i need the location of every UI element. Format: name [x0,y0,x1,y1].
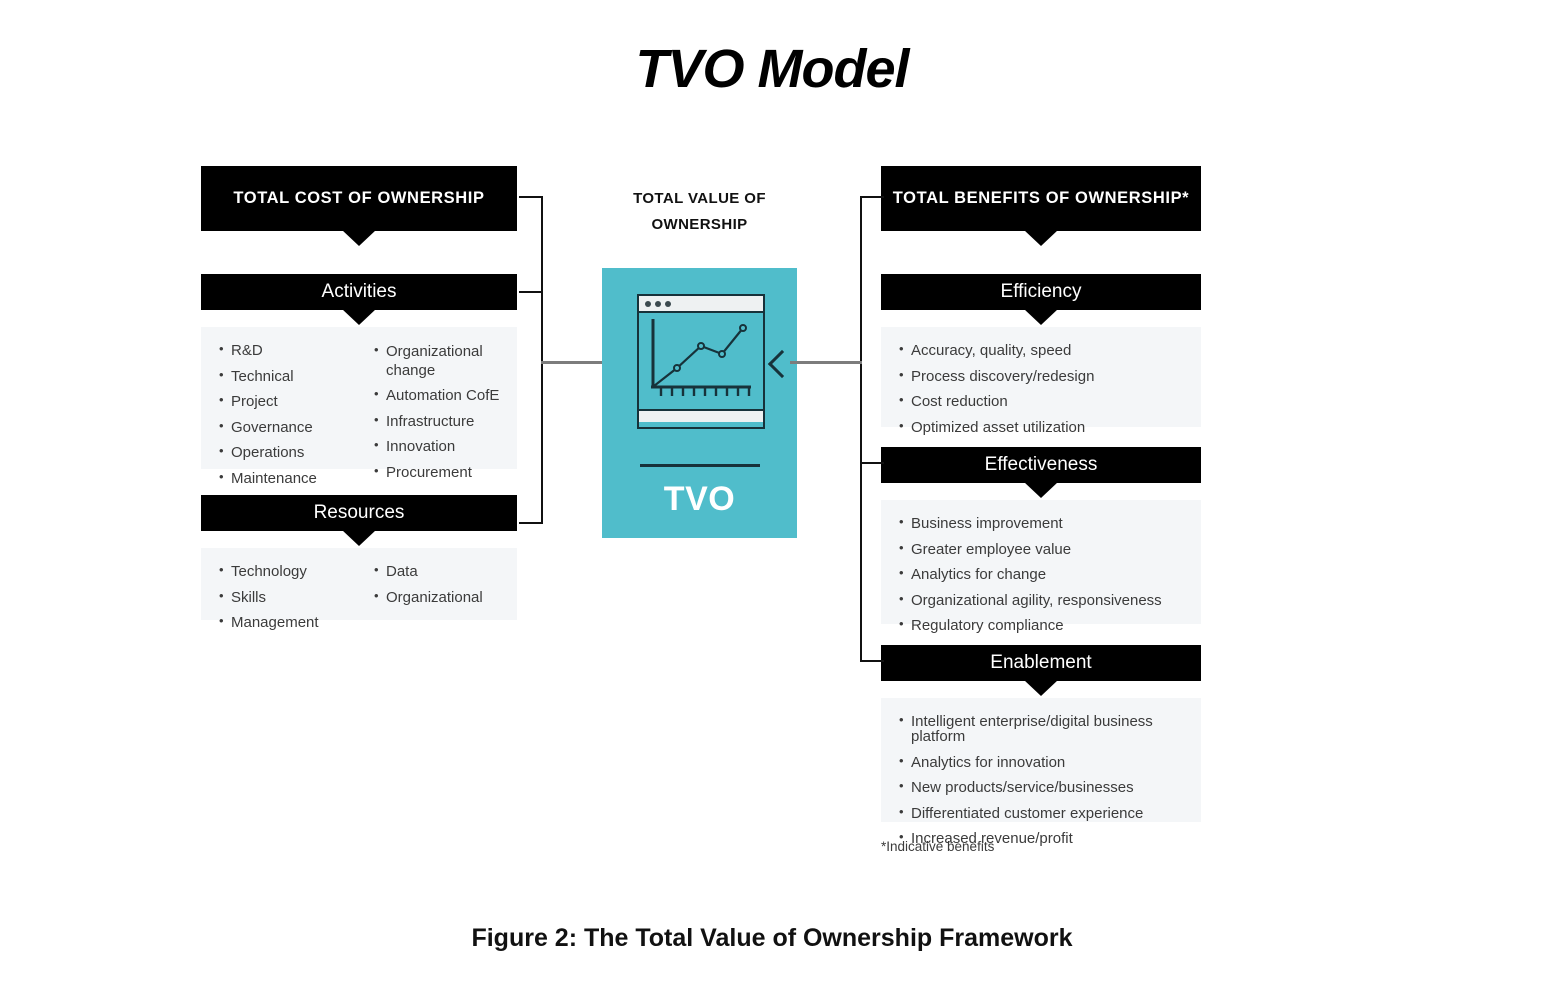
arrow-notch-icon [342,230,376,246]
list-item: Organizational change [374,343,524,381]
list-item: New products/service/businesses [899,780,1183,795]
activities-list-panel: R&D Technical Project Governance Operati… [201,327,517,469]
effectiveness-list-panel: Business improvement Greater employee va… [881,500,1201,624]
effectiveness-header-label: Effectiveness [985,454,1098,477]
resources-header: Resources [201,495,517,531]
arrow-notch-icon [1024,309,1058,325]
list-item: Governance [219,420,374,435]
tvo-caption-line-2: OWNERSHIP [651,216,747,233]
list-item: Organizational agility, responsiveness [899,593,1183,608]
list-item: Greater employee value [899,542,1183,557]
window-titlebar [639,296,763,313]
resources-list-panel: Technology Skills Management Data Organi… [201,548,517,620]
list-item: Operations [219,445,374,460]
tvo-caption-line-1: TOTAL VALUE OF [633,190,766,207]
list-item: Optimized asset utilization [899,420,1183,435]
window-dot-icon [665,301,671,307]
list-item: Differentiated customer experience [899,806,1183,821]
tco-header-label: TOTAL COST OF OWNERSHIP [233,189,484,209]
enablement-header-label: Enablement [990,652,1091,675]
line-chart-graphic [639,313,763,409]
list-item: Regulatory compliance [899,618,1183,633]
list-item: Cost reduction [899,394,1183,409]
list-item: Data [374,564,524,579]
arrow-notch-icon [1024,230,1058,246]
list-item: Intelligent enterprise/digital business … [899,714,1183,744]
resources-header-label: Resources [314,502,405,525]
tvo-divider-rule [640,464,760,467]
total-benefits-of-ownership-header: TOTAL BENEFITS OF OWNERSHIP* [881,166,1201,231]
footnote-text: *Indicative benefits [881,839,994,854]
activities-header-label: Activities [322,281,397,304]
right-bracket-tick-top [860,196,884,198]
window-dot-icon [645,301,651,307]
list-item: Management [219,615,374,630]
list-item: Business improvement [899,516,1183,531]
left-bracket-tick-middle [519,291,543,293]
total-value-of-ownership-caption: TOTAL VALUE OF OWNERSHIP [602,186,797,237]
list-item: Skills [219,590,374,605]
enablement-header: Enablement [881,645,1201,681]
diagram-canvas: TVO Model TOTAL COST OF OWNERSHIP Activi… [0,0,1544,1000]
list-item: Process discovery/redesign [899,369,1183,384]
list-item: Technical [219,369,374,384]
enablement-list-panel: Intelligent enterprise/digital business … [881,698,1201,822]
right-bracket-tick-bottom [860,660,884,662]
right-bracket-tick-middle [860,462,884,464]
tvo-center-panel: TVO [602,268,797,538]
efficiency-list-panel: Accuracy, quality, speed Process discove… [881,327,1201,427]
list-item: R&D [219,343,374,358]
list-item: Automation CofE [374,388,524,403]
resources-column-1: Technology Skills Management [219,564,374,641]
list-item: Accuracy, quality, speed [899,343,1183,358]
left-bracket-spine [541,196,543,524]
total-cost-of-ownership-header: TOTAL COST OF OWNERSHIP [201,166,517,231]
list-item: Project [219,394,374,409]
list-item: Procurement [374,465,524,480]
right-bracket-spine [860,196,862,662]
efficiency-header: Efficiency [881,274,1201,310]
window-footer-bar [639,409,763,422]
line-chart-svg [639,313,762,409]
chart-window-icon [637,294,765,429]
arrow-notch-icon [342,530,376,546]
figure-caption: Figure 2: The Total Value of Ownership F… [0,924,1544,953]
left-bracket-tick-top [519,196,543,198]
list-item: Maintenance [219,471,374,486]
list-item: Organizational [374,590,524,605]
arrow-notch-icon [342,309,376,325]
arrow-notch-icon [1024,482,1058,498]
window-dot-icon [655,301,661,307]
left-bracket-tick-bottom [519,522,543,524]
list-item: Technology [219,564,374,579]
list-item: Analytics for innovation [899,755,1183,770]
page-title: TVO Model [0,38,1544,100]
efficiency-header-label: Efficiency [1001,281,1082,304]
arrow-notch-icon [1024,680,1058,696]
tbo-header-label: TOTAL BENEFITS OF OWNERSHIP* [893,189,1189,209]
right-connector-line [790,361,862,364]
effectiveness-header: Effectiveness [881,447,1201,483]
resources-column-2: Data Organizational [374,564,524,641]
list-item: Infrastructure [374,414,524,429]
activities-column-2: Organizational change Automation CofE In… [374,343,524,496]
list-item: Analytics for change [899,567,1183,582]
activities-column-1: R&D Technical Project Governance Operati… [219,343,374,496]
tvo-label: TVO [602,480,797,519]
activities-header: Activities [201,274,517,310]
list-item: Innovation [374,439,524,454]
